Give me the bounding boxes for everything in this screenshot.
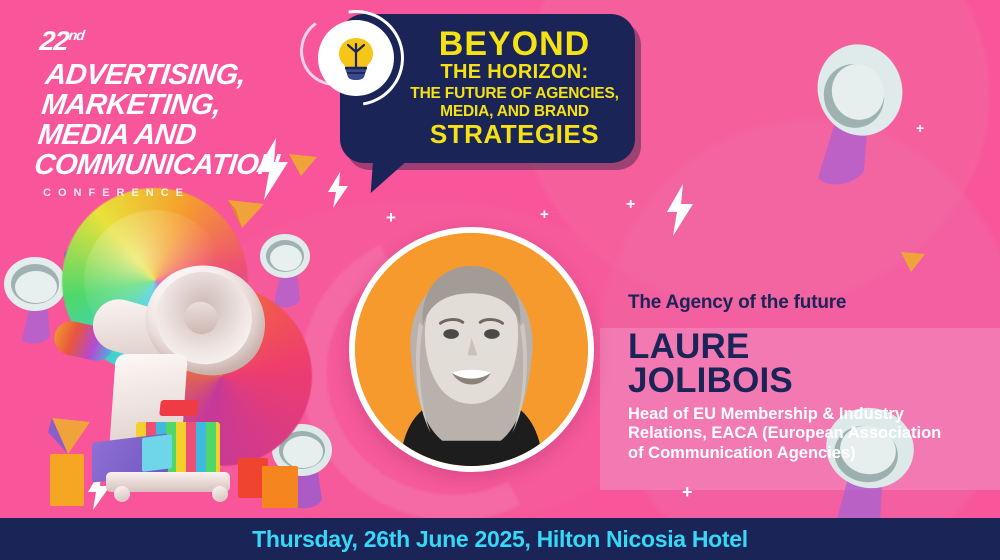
event-headline: 22nd ADVERTISING, MARKETING, MEDIA AND C… — [40, 28, 340, 199]
lightning-bolt-icon — [664, 184, 696, 241]
event-ordinal-number: 22 — [38, 26, 70, 56]
speaker-role: Head of EU Membership & Industry Relatio… — [628, 405, 958, 463]
event-details: Thursday, 26th June 2025, Hilton Nicosia… — [252, 526, 748, 553]
plus-icon: + — [386, 208, 396, 228]
speech-bubble-tail — [371, 157, 412, 193]
plus-icon: + — [540, 206, 549, 223]
bubble-line-4: MEDIA, AND BRAND — [410, 103, 619, 121]
event-title-line-4: COMMUNICATION — [33, 150, 337, 180]
plus-icon: + — [626, 196, 635, 214]
event-ordinal-suffix: nd — [68, 27, 85, 43]
megaphone-button — [159, 400, 199, 416]
speaker-photo — [349, 227, 594, 472]
base-foot-left — [114, 486, 130, 502]
event-ordinal: 22nd — [38, 28, 84, 55]
speaker-last-name: JOLIBOIS — [628, 364, 988, 398]
speaker-topic: The Agency of the future — [628, 292, 988, 314]
bubble-line-2: THE HORIZON: — [410, 62, 619, 83]
event-title-line-2: MARKETING, — [40, 90, 344, 120]
bubble-line-1: BEYOND — [410, 28, 619, 61]
speaker-info: The Agency of the future LAURE JOLIBOIS … — [628, 292, 988, 463]
megaphone-illustration — [6, 186, 336, 516]
plus-icon: + — [682, 482, 693, 503]
horn-cone-icon — [800, 38, 910, 203]
event-subtitle: CONFERENCE — [43, 187, 340, 199]
event-footer: Thursday, 26th June 2025, Hilton Nicosia… — [0, 518, 1000, 560]
orange-box-2 — [262, 466, 298, 508]
bubble-line-5: STRATEGIES — [410, 121, 619, 148]
speaker-name: LAURE JOLIBOIS — [628, 330, 988, 397]
poster-canvas: 22nd ADVERTISING, MARKETING, MEDIA AND C… — [0, 0, 1000, 560]
triangle-icon — [900, 250, 926, 279]
event-title-line-3: MEDIA AND — [36, 120, 340, 150]
bubble-line-3: THE FUTURE OF AGENCIES, — [410, 85, 619, 103]
speaker-first-name: LAURE — [628, 330, 988, 364]
cyan-box — [142, 434, 172, 472]
orange-box — [50, 454, 84, 506]
speech-bubble-body: BEYOND THE HORIZON: THE FUTURE OF AGENCI… — [340, 14, 635, 163]
lightbulb-icon — [318, 20, 394, 96]
plus-icon: + — [916, 120, 924, 136]
theme-speech-bubble: BEYOND THE HORIZON: THE FUTURE OF AGENCI… — [340, 14, 635, 163]
base-foot-right — [212, 486, 228, 502]
event-title: ADVERTISING, MARKETING, MEDIA AND COMMUN… — [33, 60, 348, 181]
